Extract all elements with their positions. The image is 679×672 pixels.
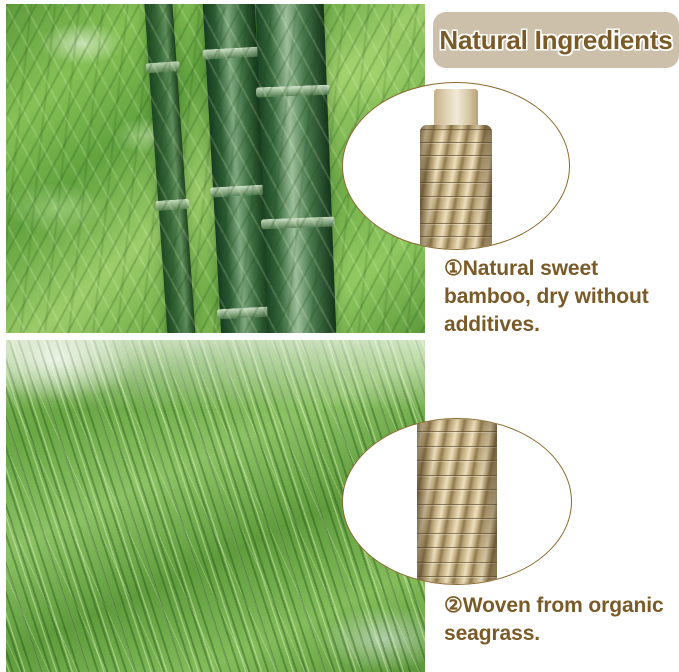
feature-number-2: ② bbox=[444, 594, 463, 617]
seagrass-roll-product bbox=[414, 418, 500, 585]
feature-text-2: Woven from organic seagrass. bbox=[444, 594, 664, 645]
product-infographic: Natural Ingredients bbox=[0, 0, 679, 672]
title-banner: Natural Ingredients bbox=[433, 12, 679, 68]
seagrass-rope-wrap bbox=[420, 125, 492, 250]
chew-stick-product bbox=[416, 89, 496, 250]
page-title: Natural Ingredients bbox=[439, 25, 672, 56]
feature-number-1: ① bbox=[444, 257, 463, 280]
feature-text-1: Natural sweet bamboo, dry without additi… bbox=[444, 257, 649, 336]
woven-seagrass-roll-inset bbox=[342, 418, 572, 585]
feature-caption-1: ①Natural sweet bamboo, dry without addit… bbox=[444, 255, 679, 339]
feature-caption-2: ②Woven from organic seagrass. bbox=[444, 592, 679, 648]
seagrass-photo-highlight bbox=[6, 340, 425, 410]
bamboo-stick-wrapped-in-seagrass-inset bbox=[342, 82, 570, 250]
seagrass-rope-body bbox=[417, 418, 497, 585]
